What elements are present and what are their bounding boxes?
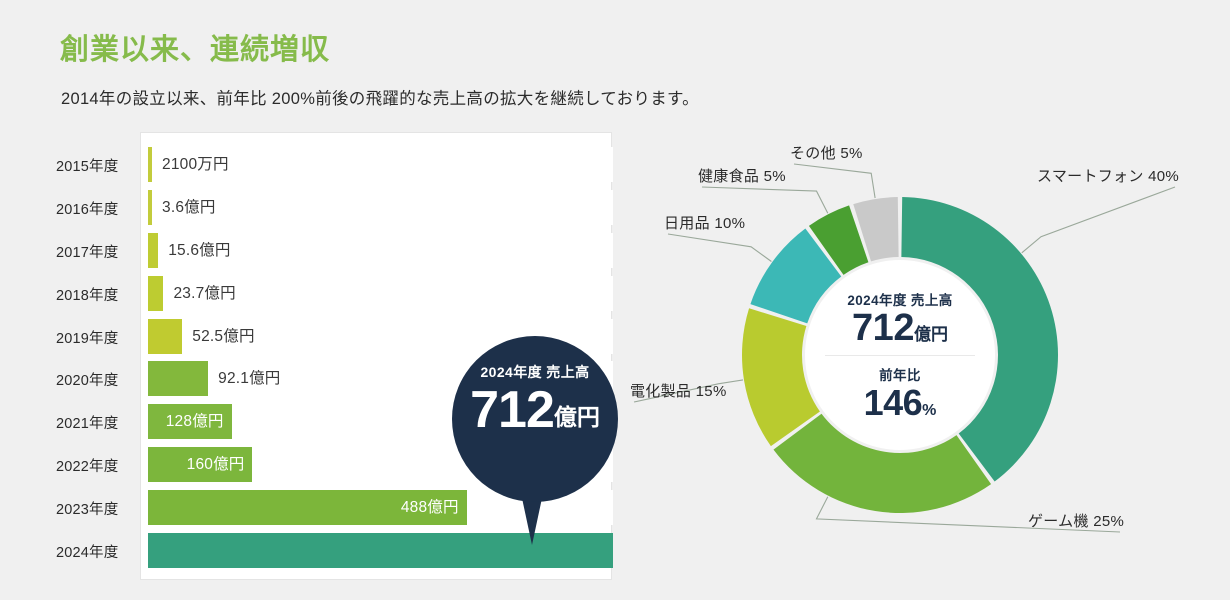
bar-fill — [148, 319, 182, 354]
donut-center-bottom-label: 前年比 — [864, 364, 937, 384]
callout-number: 712 — [470, 381, 554, 439]
donut-center-bottom: 前年比 146% — [864, 356, 937, 422]
bar-value-label: 128億円 — [166, 404, 224, 439]
bar-row: 23.7億円 — [148, 276, 613, 311]
donut-slice-label: その他 5% — [790, 142, 863, 163]
bar-fill — [148, 147, 152, 182]
bar-category-label: 2017年度 — [56, 241, 134, 262]
bar-fill — [148, 276, 163, 311]
infographic-root: 創業以来、連続増収 2014年の設立以来、前年比 200%前後の飛躍的な売上高の… — [0, 0, 1230, 600]
bar-row: 2100万円 — [148, 147, 613, 182]
bar-category-label: 2016年度 — [56, 198, 134, 219]
donut-leader-line — [702, 187, 828, 213]
donut-center-top-label: 2024年度 売上高 — [825, 289, 975, 309]
bar-category-label: 2019年度 — [56, 327, 134, 348]
sales-callout-bubble: 2024年度 売上高 712億円 — [452, 336, 618, 502]
bar-fill — [148, 233, 158, 268]
donut-chart: 2024年度 売上高 712億円 前年比 146% スマートフォン 40%ゲーム… — [620, 130, 1230, 590]
page-title: 創業以来、連続増収 — [60, 26, 330, 68]
donut-leader-line — [794, 164, 875, 198]
donut-slice-label: 健康食品 5% — [698, 165, 786, 186]
bar-category-label: 2020年度 — [56, 369, 134, 390]
bar-category-label: 2015年度 — [56, 155, 134, 176]
donut-center-top-number: 712 — [852, 307, 914, 349]
bar-category-label: 2021年度 — [56, 412, 134, 433]
donut-center-top-value: 712億円 — [825, 309, 975, 349]
donut-slice-label: 日用品 10% — [664, 212, 745, 233]
bar-value-label: 2100万円 — [162, 147, 229, 182]
donut-slice-label: スマートフォン 40% — [1037, 165, 1179, 186]
donut-center-bottom-value: 146% — [864, 384, 937, 422]
bar-value-label: 15.6億円 — [168, 233, 230, 268]
bar-row: 15.6億円 — [148, 233, 613, 268]
donut-center-bottom-unit: % — [922, 402, 936, 419]
bar-category-label: 2022年度 — [56, 455, 134, 476]
donut-slice-label: ゲーム機 25% — [1028, 510, 1124, 531]
donut-center-top-unit: 億円 — [914, 325, 948, 344]
donut-center-top: 2024年度 売上高 712億円 — [825, 289, 975, 356]
bar-value-label: 3.6億円 — [162, 190, 216, 225]
bar-category-label: 2024年度 — [56, 541, 134, 562]
donut-leader-line — [668, 234, 771, 262]
donut-center-panel: 2024年度 売上高 712億円 前年比 146% — [805, 260, 995, 450]
bar-value-label: 92.1億円 — [218, 361, 280, 396]
bar-value-label: 23.7億円 — [173, 276, 235, 311]
callout-label: 2024年度 売上高 — [452, 362, 618, 382]
bar-row: 3.6億円 — [148, 190, 613, 225]
donut-leader-line — [1022, 187, 1175, 253]
bar-category-label: 2018年度 — [56, 284, 134, 305]
bar-value-label: 160億円 — [187, 447, 245, 482]
callout-unit: 億円 — [554, 404, 600, 430]
bar-value-label: 488億円 — [401, 490, 459, 525]
donut-slice-label: 電化製品 15% — [630, 380, 727, 401]
callout-value: 712億円 — [452, 384, 618, 436]
page-subtitle: 2014年の設立以来、前年比 200%前後の飛躍的な売上高の拡大を継続しておりま… — [61, 85, 699, 109]
bar-fill — [148, 190, 152, 225]
bar-category-label: 2023年度 — [56, 498, 134, 519]
bar-fill — [148, 361, 208, 396]
donut-center-bottom-number: 146 — [864, 382, 923, 423]
bar-value-label: 52.5億円 — [192, 319, 254, 354]
